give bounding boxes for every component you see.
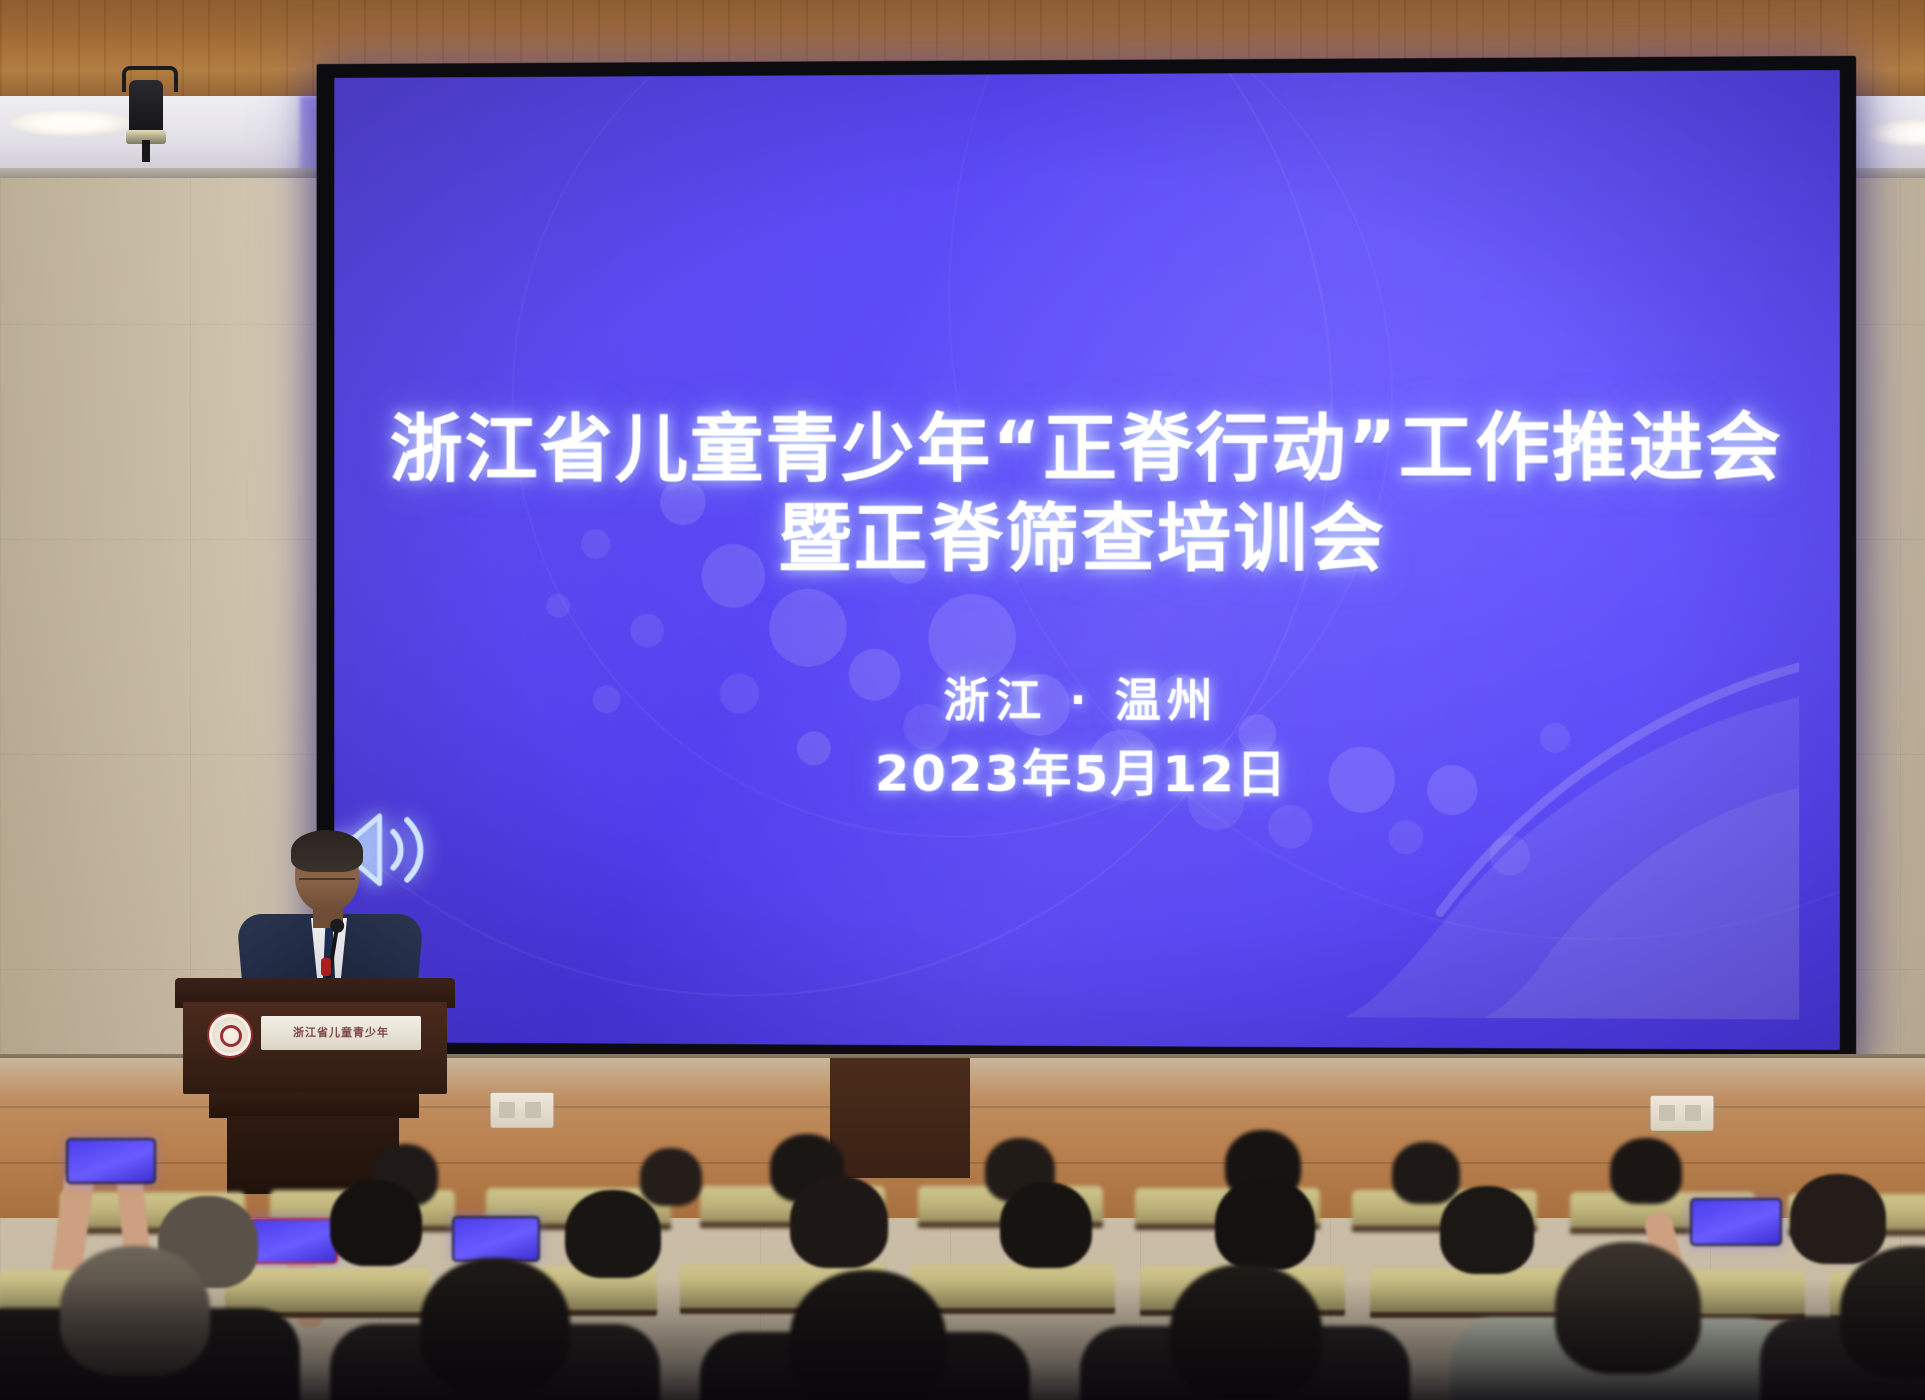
- audience-foreground-shadow: [0, 1280, 1925, 1400]
- socket-outlet: [1685, 1105, 1701, 1121]
- led-screen-frame: 浙江省儿童青少年“正脊行动”工作推进会 暨正脊筛查培训会 浙江 · 温州 202…: [317, 56, 1857, 1064]
- institution-seal-emblem: [207, 1012, 253, 1058]
- stage-spotlight: [120, 66, 172, 162]
- socket-outlet: [525, 1102, 541, 1118]
- podium: 浙江省儿童青少年: [175, 830, 455, 1160]
- audience-head: [1392, 1142, 1460, 1204]
- podium-neck: [209, 1092, 419, 1118]
- slide-content: 浙江省儿童青少年“正脊行动”工作推进会 暨正脊筛查培训会 浙江 · 温州 202…: [334, 70, 1840, 1050]
- smartphone-camera[interactable]: [250, 1218, 338, 1264]
- podium-nameplate-text: 浙江省儿童青少年: [267, 1022, 415, 1044]
- smartphone-camera[interactable]: [1690, 1198, 1782, 1246]
- screenshot-root: 浙江省儿童青少年“正脊行动”工作推进会 暨正脊筛查培训会 浙江 · 温州 202…: [0, 0, 1925, 1400]
- socket-outlet: [1659, 1105, 1675, 1121]
- spotlight-stem: [142, 140, 150, 162]
- audience-head: [1215, 1178, 1315, 1270]
- audience-head: [640, 1148, 702, 1206]
- podium-front-panel: 浙江省儿童青少年: [183, 1002, 447, 1094]
- slide-title: 浙江省儿童青少年“正脊行动”工作推进会 暨正脊筛查培训会: [334, 403, 1840, 585]
- slide-location: 浙江 · 温州: [334, 663, 1840, 731]
- led-screen: 浙江省儿童青少年“正脊行动”工作推进会 暨正脊筛查培训会 浙江 · 温州 202…: [334, 70, 1840, 1050]
- presenter-hair: [291, 830, 363, 872]
- audience-head: [1790, 1174, 1886, 1264]
- socket-outlet: [499, 1102, 515, 1118]
- audience-head: [1610, 1138, 1682, 1204]
- glasses-icon: [299, 878, 355, 892]
- slide-date: 2023年5月12日: [334, 733, 1840, 808]
- slide-title-line-2: 暨正脊筛查培训会: [334, 494, 1840, 585]
- audience-head: [1440, 1186, 1534, 1274]
- audience-head: [330, 1180, 422, 1266]
- smartphone-camera[interactable]: [66, 1138, 156, 1184]
- audience-head: [1000, 1182, 1092, 1268]
- slide-title-line-1: 浙江省儿童青少年“正脊行动”工作推进会: [390, 405, 1783, 493]
- audience-area: [0, 1120, 1925, 1400]
- audience-head: [790, 1176, 888, 1268]
- podium-nameplate: 浙江省儿童青少年: [261, 1016, 421, 1050]
- smartphone-camera[interactable]: [452, 1216, 540, 1262]
- audience-head: [565, 1190, 661, 1278]
- downlight: [10, 110, 130, 136]
- microphone-indicator: [321, 958, 331, 976]
